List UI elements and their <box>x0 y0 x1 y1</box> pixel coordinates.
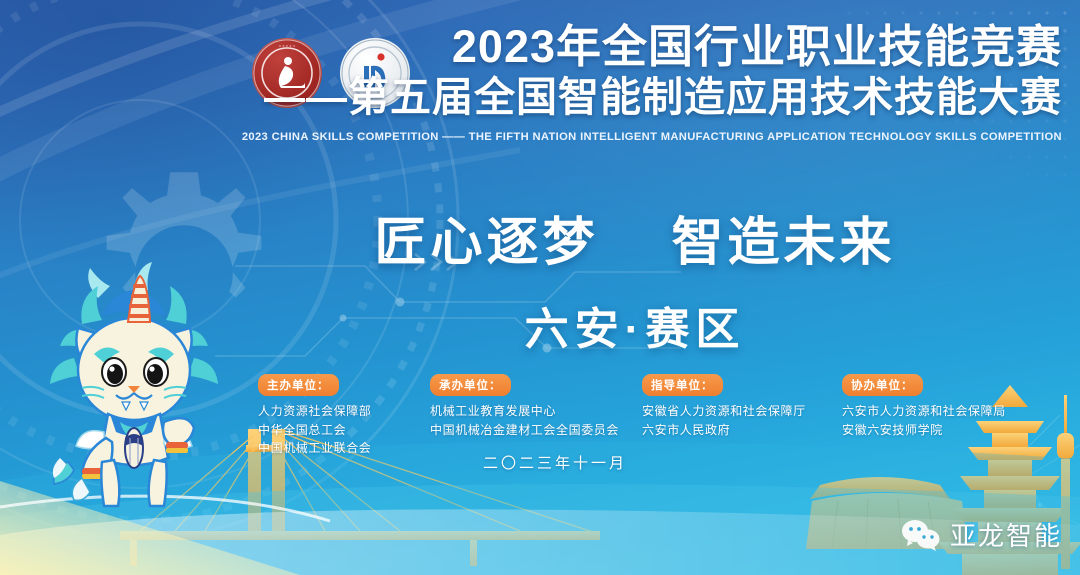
slogan-line: 匠心逐梦 智造未来 <box>190 200 1080 275</box>
organizer-column-guidance: 指导单位： 安徽省人力资源和社会保障厅 六安市人民政府 <box>642 374 842 458</box>
page-subtitle: ——第五届全国智能制造应用技术技能大赛 <box>0 74 1062 121</box>
status-badge: 指导单位： <box>642 374 723 396</box>
organizer-section: 主办单位： 人力资源社会保障部 中华全国总工会 中国机械工业联合会 承办单位： … <box>258 374 1048 458</box>
status-badge: 协办单位： <box>842 374 923 396</box>
list-item: 安徽六安技师学院 <box>842 421 1048 440</box>
organizer-column-coorganizer: 协办单位： 六安市人力资源和社会保障局 安徽六安技师学院 <box>842 374 1048 458</box>
list-item: 中华全国总工会 <box>258 421 430 440</box>
organizer-list: 安徽省人力资源和社会保障厅 六安市人民政府 <box>642 402 842 439</box>
list-item: 安徽省人力资源和社会保障厅 <box>642 402 842 421</box>
organizer-column-host: 主办单位： 人力资源社会保障部 中华全国总工会 中国机械工业联合会 <box>258 374 430 458</box>
watermark: 亚龙智能 <box>901 516 1062 553</box>
status-badge: 主办单位： <box>258 374 339 396</box>
title-block: 2023年全国行业职业技能竞赛 ——第五届全国智能制造应用技术技能大赛 2023… <box>0 22 1080 143</box>
event-date: 二〇二三年十一月 <box>0 452 1080 473</box>
page-title: 2023年全国行业职业技能竞赛 <box>0 22 1062 72</box>
slogan-part-2: 智造未来 <box>671 214 895 272</box>
list-item: 六安市人力资源和社会保障局 <box>842 402 1048 421</box>
organizer-column-undertaker: 承办单位： 机械工业教育发展中心 中国机械冶金建材工会全国委员会 <box>430 374 642 458</box>
page-title-english: 2023 CHINA SKILLS COMPETITION —— THE FIF… <box>0 131 1062 143</box>
list-item: 中国机械冶金建材工会全国委员会 <box>430 421 642 440</box>
organizer-list: 六安市人力资源和社会保障局 安徽六安技师学院 <box>842 402 1048 439</box>
status-badge: 承办单位： <box>430 374 511 396</box>
poster-canvas: ★ ★ ★ ★ ★ CMES 2023年全国行业职业技能竞赛 <box>0 0 1080 575</box>
watermark-text: 亚龙智能 <box>950 516 1062 553</box>
list-item: 六安市人民政府 <box>642 421 842 440</box>
organizer-list: 人力资源社会保障部 中华全国总工会 中国机械工业联合会 <box>258 402 430 458</box>
slogan-block: 匠心逐梦 智造未来 六安·赛区 <box>0 200 1080 357</box>
organizer-list: 机械工业教育发展中心 中国机械冶金建材工会全国委员会 <box>430 402 642 439</box>
list-item: 人力资源社会保障部 <box>258 402 430 421</box>
venue-label: 六安·赛区 <box>190 293 1080 357</box>
list-item: 机械工业教育发展中心 <box>430 402 642 421</box>
wechat-icon <box>901 519 941 551</box>
slogan-part-1: 匠心逐梦 <box>375 214 599 272</box>
